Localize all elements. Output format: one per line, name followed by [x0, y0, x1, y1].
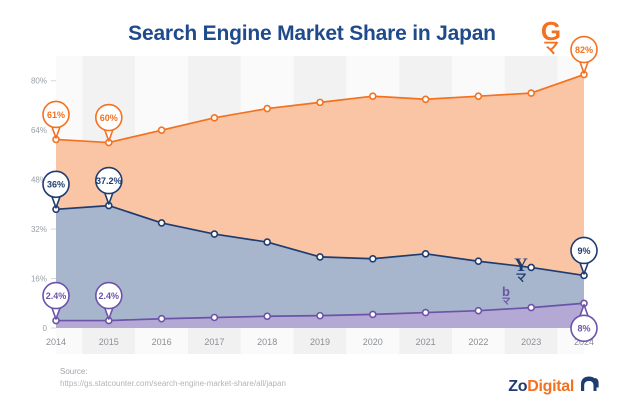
bing-b-icon: bマ [501, 284, 510, 306]
callout-yahoo-2015-value: 37.2% [96, 176, 122, 186]
y-axis-tick-label: 80% [31, 77, 47, 86]
data-point-yahoo-2023 [528, 264, 534, 270]
data-point-bing-2023 [528, 305, 534, 311]
x-axis-label-2019: 2019 [310, 337, 330, 347]
callout-yahoo-2014-value: 36% [47, 180, 65, 190]
data-point-yahoo-2017 [211, 231, 217, 237]
callout-google-2014-value: 61% [47, 110, 65, 120]
callout-google-2015-value: 60% [100, 113, 118, 123]
market-share-area-chart: 016%32%48%64%80% 20142015201620172018201… [0, 0, 624, 409]
brand-text-digital: Digital [527, 378, 574, 395]
data-point-google-2018 [264, 106, 270, 112]
data-point-google-2016 [159, 127, 165, 133]
data-point-bing-2020 [370, 311, 376, 317]
google-g-icon: Gマ [541, 16, 561, 57]
callout-bing-2024-value: 8% [577, 324, 590, 334]
y-axis-tick-label: 0 [43, 324, 48, 333]
data-point-yahoo-2021 [423, 251, 429, 257]
callout-yahoo-2024-value: 9% [577, 246, 590, 256]
callout-google-2024-value: 82% [575, 45, 593, 55]
svg-text:マ: マ [543, 40, 559, 57]
data-point-bing-2016 [159, 316, 165, 322]
data-point-yahoo-2022 [475, 258, 481, 264]
source-block: Source: https://gs.statcounter.com/searc… [60, 366, 286, 389]
yahoo-y-icon: Yマ [514, 255, 528, 284]
data-point-yahoo-2019 [317, 254, 323, 260]
data-point-google-2019 [317, 99, 323, 105]
data-point-bing-2017 [211, 314, 217, 320]
x-axis-label-2020: 2020 [363, 337, 383, 347]
data-point-yahoo-2018 [264, 239, 270, 245]
brand-text-zo: Zo [508, 378, 527, 395]
x-axis-label-2015: 2015 [99, 337, 119, 347]
data-point-bing-2018 [264, 313, 270, 319]
x-axis-label-2023: 2023 [521, 337, 541, 347]
data-point-bing-2022 [475, 308, 481, 314]
data-point-google-2022 [475, 93, 481, 99]
elephant-icon [578, 374, 600, 399]
x-axis-label-2014: 2014 [46, 337, 66, 347]
y-axis-tick-label: 32% [31, 225, 47, 234]
svg-text:マ: マ [501, 296, 510, 306]
source-label: Source: [60, 366, 286, 378]
data-point-bing-2021 [423, 310, 429, 316]
x-axis-label-2017: 2017 [204, 337, 224, 347]
brand-logo: ZoDigital [508, 374, 600, 399]
data-point-yahoo-2016 [159, 220, 165, 226]
x-axis-label-2021: 2021 [416, 337, 436, 347]
brand-text: ZoDigital [508, 378, 574, 396]
data-point-google-2017 [211, 115, 217, 121]
data-point-yahoo-2020 [370, 256, 376, 262]
callout-bing-2014-value: 2.4% [46, 291, 67, 301]
infographic-root: Search Engine Market Share in Japan 016%… [0, 0, 624, 409]
data-point-google-2020 [370, 93, 376, 99]
data-point-google-2021 [423, 96, 429, 102]
y-axis-tick-label: 16% [31, 275, 47, 284]
x-axis-label-2022: 2022 [468, 337, 488, 347]
y-axis-tick-label: 64% [31, 126, 47, 135]
data-point-bing-2019 [317, 313, 323, 319]
x-axis-label-2016: 2016 [152, 337, 172, 347]
data-point-google-2023 [528, 90, 534, 96]
x-axis-label-2018: 2018 [257, 337, 277, 347]
svg-text:マ: マ [516, 272, 527, 284]
source-url: https://gs.statcounter.com/search-engine… [60, 378, 286, 390]
chart-area: 016%32%48%64%80% 20142015201620172018201… [0, 0, 624, 409]
callout-bing-2015-value: 2.4% [99, 291, 120, 301]
